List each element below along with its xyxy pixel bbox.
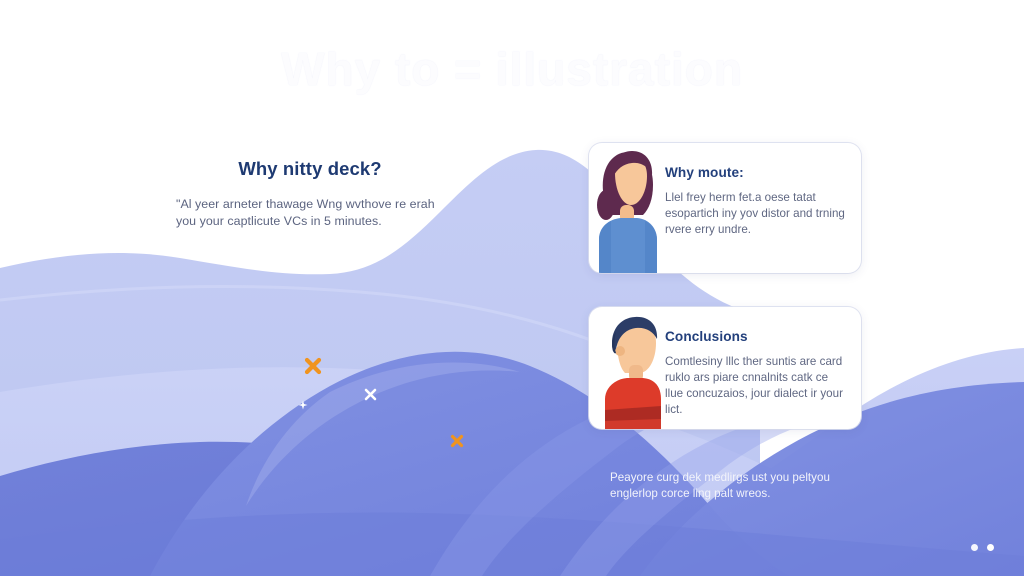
star-white-tiny-icon — [298, 400, 308, 410]
hill-front-left — [0, 442, 580, 576]
card-conclusions-title: Conclusions — [665, 329, 845, 344]
footer-caption: Peayore curg dek medlirgs ust you peltyo… — [610, 470, 880, 502]
sleeve-left — [599, 221, 611, 273]
crest-line — [0, 286, 640, 360]
card-conclusions-text: Conclusions Comtlesiny lllc ther suntis … — [661, 307, 861, 429]
pagination-dots[interactable] — [971, 544, 994, 551]
page-title-ghost: Why to = illustration — [0, 42, 1024, 96]
pager-dot-1[interactable] — [971, 544, 978, 551]
left-heading: Why nitty deck? — [176, 158, 444, 180]
card-conclusions-body: Comtlesiny lllc ther suntis are card ruk… — [665, 354, 845, 418]
ear — [615, 346, 625, 356]
avatar-man — [589, 307, 661, 429]
hair-ponytail — [597, 190, 615, 220]
ridge-highlight-c — [246, 362, 520, 506]
x-mark-white-small-icon — [363, 387, 378, 402]
card-conclusions[interactable]: Conclusions Comtlesiny lllc ther suntis … — [589, 307, 861, 429]
left-body-text: "Al yeer arneter thawage Wng wvthove re … — [176, 196, 444, 230]
x-mark-orange-lower-icon — [449, 433, 465, 449]
x-mark-orange-upper-icon — [303, 356, 323, 376]
slide-canvas: Why to = illustration Why nitty deck? "A… — [0, 0, 1024, 576]
avatar-woman — [589, 143, 661, 273]
card-why-moute-text: Why moute: Llel frey herm fet.a oese tat… — [661, 143, 861, 273]
pager-dot-2[interactable] — [987, 544, 994, 551]
sleeve-right — [645, 221, 657, 273]
card-why-moute-body: Llel frey herm fet.a oese tatat esoparti… — [665, 190, 845, 238]
card-why-moute[interactable]: Why moute: Llel frey herm fet.a oese tat… — [589, 143, 861, 273]
card-why-moute-title: Why moute: — [665, 165, 845, 180]
hill-bottom-wash — [0, 512, 1024, 576]
left-text-block: Why nitty deck? "Al yeer arneter thawage… — [176, 158, 444, 230]
